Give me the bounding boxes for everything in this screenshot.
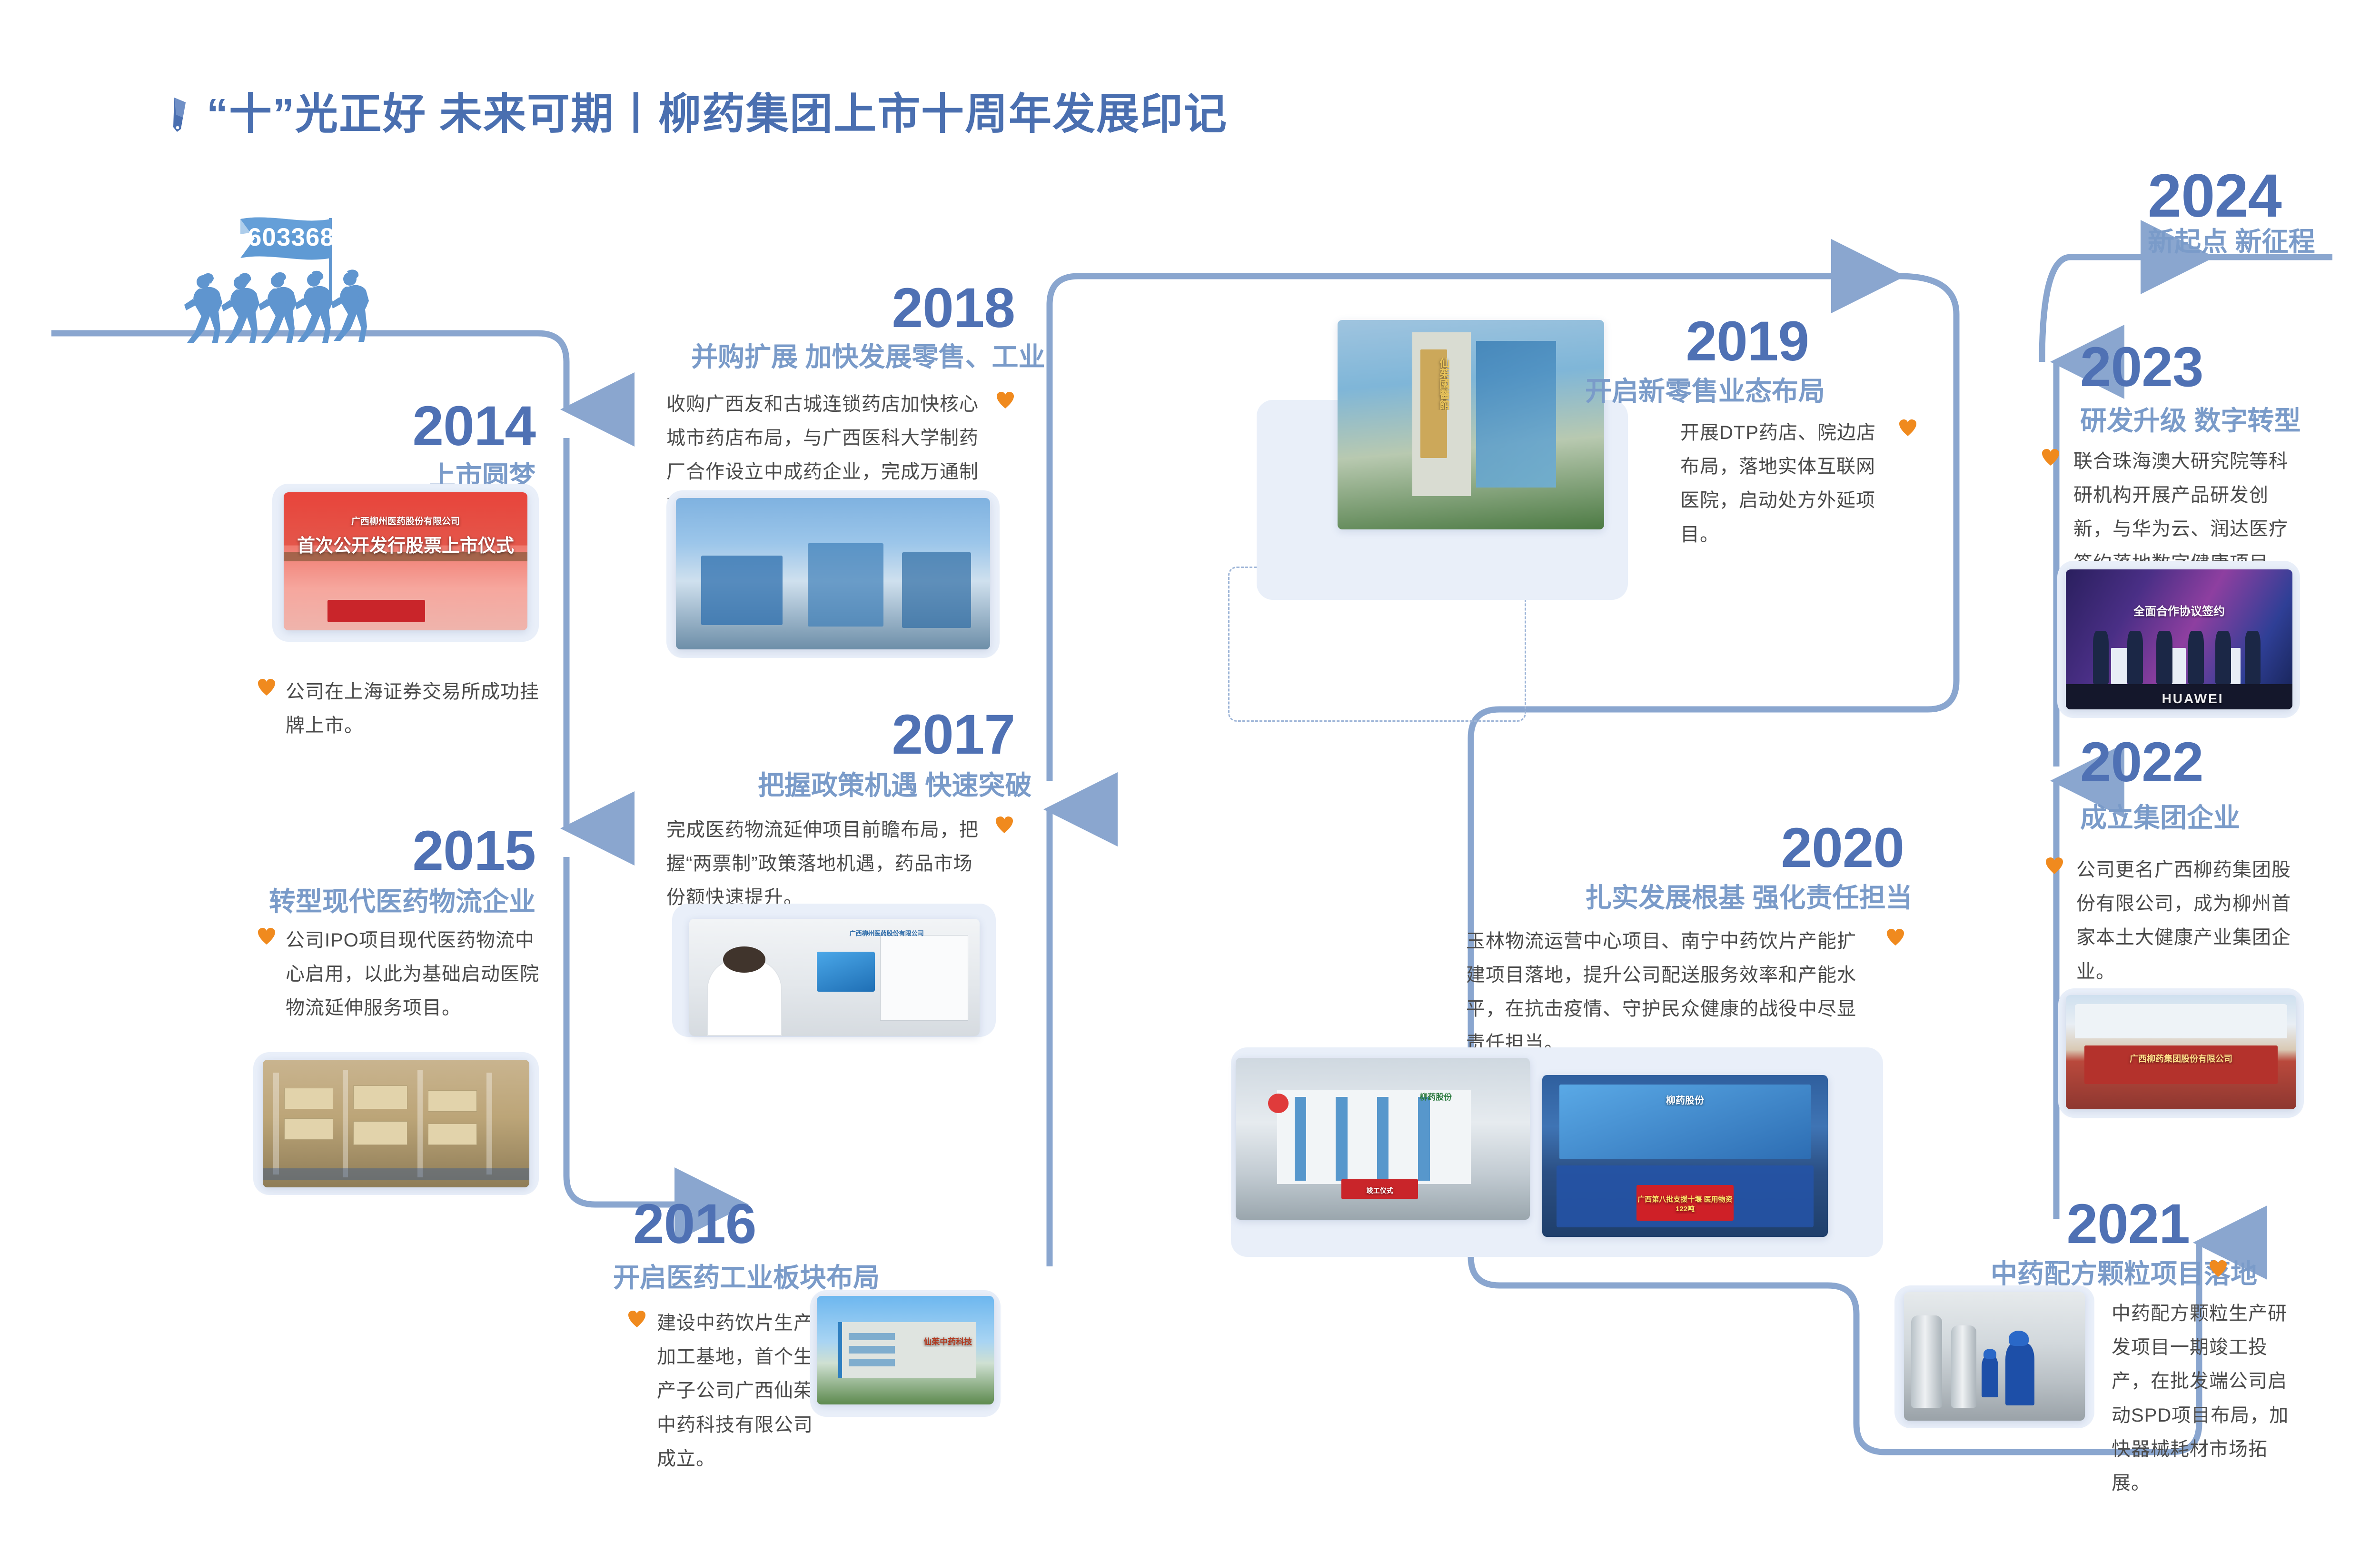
heart-icon — [1898, 419, 1917, 437]
year-2021-subtitle: 中药配方颗粒项目落地 — [1991, 1261, 2191, 1287]
year-2015-subtitle: 转型现代医药物流企业 — [267, 888, 535, 915]
heart-icon — [257, 678, 276, 697]
year-2023-subtitle: 研发升级 数字转型 — [2080, 408, 2301, 434]
year-2017-subtitle: 把握政策机遇 快速突破 — [758, 772, 1015, 799]
team-photo-subcaption: 广西第八批支援十堰 医用物资122吨 — [1634, 1195, 1736, 1214]
team-photo-caption: 柳药股份 — [1554, 1093, 1816, 1106]
year-2024-number: 2024 — [2148, 166, 2281, 227]
year-2019-subtitle: 开启新零售业态布局 — [1585, 378, 1809, 405]
year-2014-body: 公司在上海证券交易所成功挂牌上市。 — [286, 675, 543, 743]
heart-icon — [2045, 857, 2064, 875]
page-title: “十”光正好 未来可期丨柳药集团上市十周年发展印记 — [207, 93, 1228, 136]
heart-icon — [996, 391, 1015, 409]
pharma-production-line-photo — [676, 498, 990, 649]
huawei-photo-subcaption: HUAWEI — [2107, 691, 2279, 707]
smart-medicine-cabinet-photo: 广西柳州医药股份有限公司 — [689, 919, 980, 1036]
year-2016-subtitle: 开启医药工业板块布局 — [613, 1264, 880, 1291]
warehouse-photo — [263, 1060, 529, 1187]
logistics-photo-subcaption: 竣工仪式 — [1341, 1186, 1418, 1195]
year-2022-number: 2022 — [2080, 734, 2203, 790]
year-2020-number: 2020 — [1761, 820, 1904, 876]
heart-icon — [995, 816, 1014, 834]
xianzhu-drugstore-photo: 仙茱國醫館 — [1338, 320, 1604, 529]
stock-code-flag-label: 603368 — [248, 223, 335, 252]
xianzhu-factory-photo: 仙茱中药科技 — [817, 1296, 994, 1404]
year-2015-body: 公司IPO项目现代医药物流中心启用，以此为基础启动医院物流延伸服务项目。 — [286, 924, 543, 1025]
year-2017-number: 2017 — [872, 707, 1015, 763]
year-2014-number: 2014 — [407, 398, 535, 454]
huawei-photo-caption: 全面合作协议签约 — [2080, 602, 2279, 618]
year-2020-body: 玉林物流运营中心项目、南宁中药饮片产能扩建项目落地，提升公司配送服务效率和产能水… — [1466, 925, 1875, 1060]
logistics-center-photo: 柳药股份 竣工仪式 — [1236, 1058, 1530, 1220]
year-2022-subtitle: 成立集团企业 — [2080, 805, 2240, 831]
granule-workshop-photo — [1904, 1292, 2085, 1421]
ceremony-photo-caption: 广西柳药集团股份有限公司 — [2089, 1052, 2273, 1065]
year-2020-subtitle: 扎实发展根基 强化责任担当 — [1585, 885, 1904, 911]
year-2022-body: 公司更名广西柳药集团股份有限公司，成为柳州首家本土大健康产业集团企业。 — [2076, 853, 2310, 989]
logistics-photo-caption: 柳药股份 — [1365, 1090, 1507, 1102]
cabinet-photo-subcaption: 广西柳州医药股份有限公司 — [805, 928, 968, 937]
year-2021-body: 中药配方颗粒生产研发项目一期竣工投产，在批发端公司启动SPD项目布局，加快器械耗… — [2112, 1297, 2297, 1500]
ipo-ceremony-photo: 广西柳州医药股份有限公司 首次公开发行股票上市仪式 — [284, 492, 527, 630]
infographic-canvas: “十”光正好 未来可期丨柳药集团上市十周年发展印记 — [0, 0, 2380, 1543]
year-2021-number: 2021 — [2047, 1196, 2190, 1252]
year-2019-number: 2019 — [1666, 313, 1809, 369]
heart-icon — [627, 1310, 646, 1328]
year-2018-subtitle: 并购扩展 加快发展零售、工业 — [691, 344, 1015, 370]
pen-icon — [171, 96, 196, 133]
heart-icon — [2209, 1260, 2228, 1278]
drugstore-photo-caption: 仙茱國醫館 — [1418, 358, 1449, 410]
ipo-photo-caption: 首次公开发行股票上市仪式 — [284, 531, 527, 557]
ipo-photo-subcaption: 广西柳州医药股份有限公司 — [284, 514, 527, 527]
year-2015-number: 2015 — [407, 823, 535, 879]
xianzhu-photo-caption: 仙茱中药科技 — [909, 1335, 987, 1347]
year-2023-number: 2023 — [2080, 339, 2203, 395]
epidemic-support-team-photo: 柳药股份 广西第八批支援十堰 医用物资122吨 — [1542, 1075, 1828, 1237]
group-ceremony-photo: 广西柳药集团股份有限公司 — [2066, 995, 2296, 1109]
page-header: “十”光正好 未来可期丨柳药集团上市十周年发展印记 — [171, 93, 1228, 136]
heart-icon — [1886, 928, 1905, 946]
year-2024-subtitle: 新起点 新征程 — [2148, 229, 2315, 255]
year-2016-number: 2016 — [633, 1196, 756, 1252]
year-2017-body: 完成医药物流延伸项目前瞻布局，把握“两票制”政策落地机遇，药品市场份额快速提升。 — [666, 813, 981, 915]
year-2023-body: 联合珠海澳大研究院等科研机构开展产品研发创新，与华为云、润达医疗签约落地数字健康… — [2073, 445, 2307, 580]
year-2018-number: 2018 — [872, 280, 1015, 336]
huawei-signing-photo: 全面合作协议签约 HUAWEI — [2066, 569, 2292, 709]
year-2019-body: 开展DTP药店、院边店布局，落地实体互联网医院，启动处方外延项目。 — [1680, 416, 1890, 552]
heart-icon — [257, 927, 276, 946]
year-2016-body: 建设中药饮片生产加工基地，首个生产子公司广西仙茱中药科技有限公司成立。 — [657, 1306, 814, 1476]
heart-icon — [2041, 448, 2060, 467]
